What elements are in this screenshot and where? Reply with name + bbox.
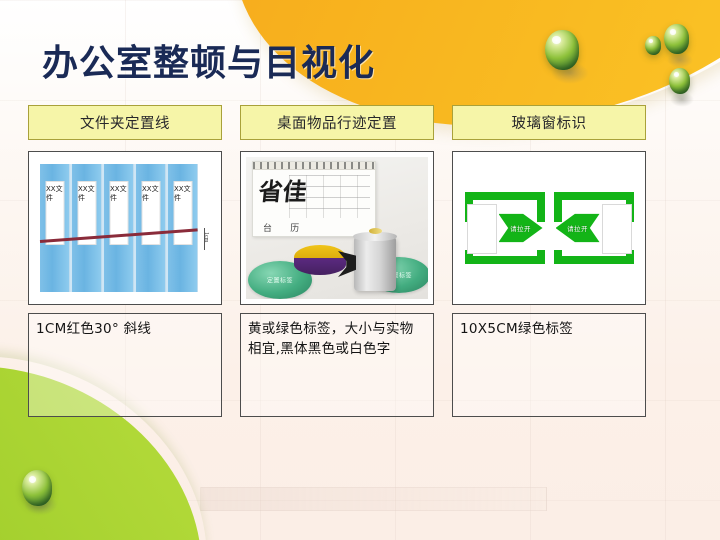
column-header-3-label: 玻璃窗标识	[512, 112, 587, 133]
tape-roll-purple	[294, 258, 346, 275]
column-window-sign: 玻璃窗标识 请拉开 请拉开	[452, 105, 646, 417]
door-sign-left-arrow: 请拉开	[554, 192, 634, 264]
column-desk-items: 桌面物品行迹定置 省佳 台 历 定置标签 定置标签	[240, 105, 434, 417]
folder-item: XX文件	[72, 164, 102, 292]
droplet-1-icon	[545, 30, 579, 70]
column-header-1-label: 文件夹定置线	[80, 112, 170, 133]
droplet-3-icon	[645, 36, 661, 55]
cup-knob	[369, 228, 382, 234]
desk-photo: 省佳 台 历 定置标签 定置标签	[246, 157, 428, 299]
folder-label-text: XX文件	[142, 185, 159, 203]
caption-text-3: 10X5CM绿色标签	[460, 321, 573, 337]
columns-container: 文件夹定置线 XX文件 XX文件	[28, 105, 692, 417]
door-signs: 请拉开 请拉开	[458, 157, 640, 299]
caption-box-3: 10X5CM绿色标签	[452, 313, 646, 417]
caption-box-2: 黄或绿色标签，大小与实物相宜,黑体黑色或白色字	[240, 313, 434, 417]
droplet-2-shadow	[667, 52, 693, 68]
folder-row: XX文件 XX文件 XX文件	[40, 164, 198, 292]
illustration-door-signs: 请拉开 请拉开	[452, 151, 646, 305]
dimension-label: 1cm	[203, 232, 209, 242]
folder-photo: XX文件 XX文件 XX文件	[35, 160, 215, 296]
door-sign-right-arrow: 请拉开	[465, 192, 545, 264]
arrow-right-label: 请拉开	[510, 223, 531, 233]
illustration-desk-photo: 省佳 台 历 定置标签 定置标签	[240, 151, 434, 305]
tape-rolls	[294, 245, 346, 277]
desk-cup	[354, 237, 396, 291]
arrow-left-label: 请拉开	[567, 223, 588, 233]
desk-calendar: 省佳 台 历	[252, 161, 376, 237]
folder-label: XX文件	[173, 181, 192, 245]
folder-label: XX文件	[45, 181, 64, 245]
calendar-footer-text: 台 历	[263, 221, 307, 234]
folder-label-text: XX文件	[78, 185, 95, 203]
dimension-annotation: 1cm	[198, 164, 210, 292]
folder-item: XX文件	[40, 164, 70, 292]
column-header-3: 玻璃窗标识	[452, 105, 646, 140]
folder-label: XX文件	[141, 181, 160, 245]
folder-label-text: XX文件	[174, 185, 191, 203]
column-header-2: 桌面物品行迹定置	[240, 105, 434, 140]
background-watermark-bar	[200, 487, 547, 511]
calendar-binding	[253, 162, 375, 170]
droplet-5-icon	[22, 470, 52, 506]
folder-label-text: XX文件	[46, 185, 63, 203]
droplet-2-icon	[664, 24, 689, 54]
sign-pane	[602, 204, 632, 254]
caption-text-1: 1CM红色30° 斜线	[36, 321, 151, 337]
column-file-folder: 文件夹定置线 XX文件 XX文件	[28, 105, 222, 417]
folder-label-text: XX文件	[110, 185, 127, 203]
caption-box-1: 1CM红色30° 斜线	[28, 313, 222, 417]
caption-text-2: 黄或绿色标签，大小与实物相宜,黑体黑色或白色字	[248, 321, 414, 357]
folder-item: XX文件	[104, 164, 134, 292]
column-header-2-label: 桌面物品行迹定置	[277, 112, 397, 133]
illustration-file-folders: XX文件 XX文件 XX文件	[28, 151, 222, 305]
page-title: 办公室整顿与目视化	[42, 34, 375, 86]
column-header-1: 文件夹定置线	[28, 105, 222, 140]
slide-canvas: 办公室整顿与目视化 文件夹定置线 XX文件	[0, 0, 720, 540]
folder-item: XX文件	[136, 164, 166, 292]
sign-pane	[467, 204, 497, 254]
calendar-grid	[289, 175, 370, 218]
droplet-4-icon	[669, 68, 690, 94]
